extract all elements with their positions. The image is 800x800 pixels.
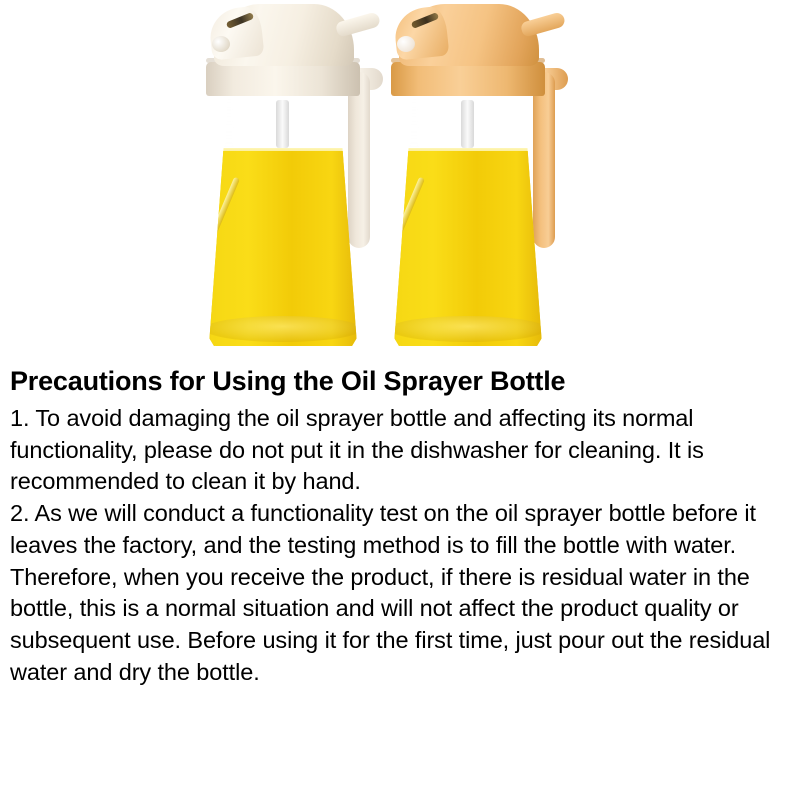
page-title: Precautions for Using the Oil Sprayer Bo… <box>10 366 790 397</box>
precautions-text-block: Precautions for Using the Oil Sprayer Bo… <box>0 352 800 689</box>
product-image <box>0 0 800 352</box>
spout-nozzle-icon <box>520 11 566 38</box>
spray-toggle-button-icon <box>397 36 415 52</box>
handle-post-icon <box>533 72 555 248</box>
bottle-base-reflection <box>393 316 543 342</box>
bottle-base-reflection <box>208 316 358 342</box>
pump-stem-icon <box>276 100 289 148</box>
precaution-paragraph-2: 2. As we will conduct a functionality te… <box>10 498 790 688</box>
oil-liquid-fill <box>208 151 358 346</box>
cap-nose <box>393 5 450 60</box>
spout-nozzle-icon <box>335 11 381 38</box>
cap-collar <box>206 62 360 96</box>
oil-liquid-fill <box>393 151 543 346</box>
handle-post-icon <box>348 72 370 248</box>
glass-bottle-body <box>208 94 358 346</box>
oil-sprayer-bottle-orange <box>381 0 591 352</box>
precaution-paragraph-1: 1. To avoid damaging the oil sprayer bot… <box>10 403 790 498</box>
cap-nose <box>208 5 265 60</box>
pump-stem-icon <box>461 100 474 148</box>
oil-sprayer-bottle-cream <box>196 0 406 352</box>
cap-collar <box>391 62 545 96</box>
glass-bottle-body <box>393 94 543 346</box>
spray-toggle-button-icon <box>212 36 230 52</box>
